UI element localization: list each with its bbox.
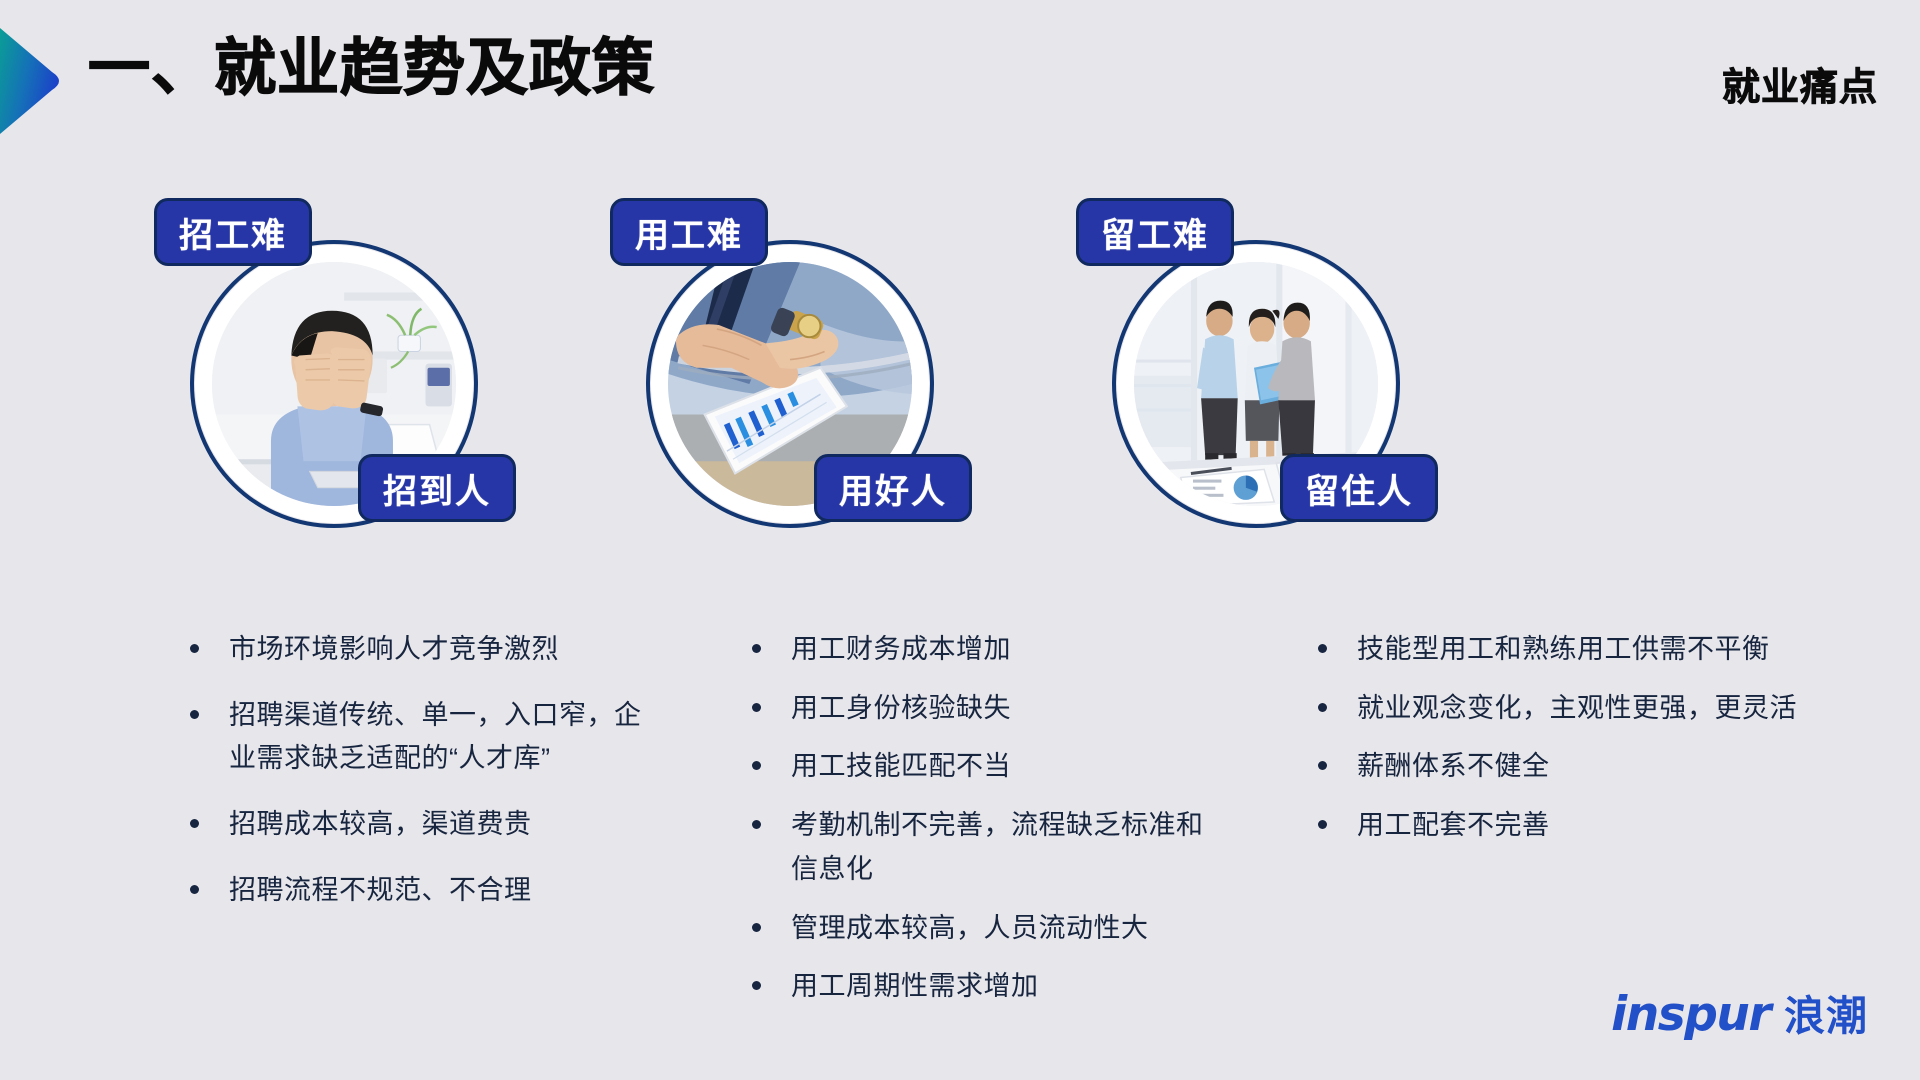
list-item: 招聘成本较高，渠道费贵 xyxy=(190,803,660,847)
list-item: 就业观念变化，主观性更强，更灵活 xyxy=(1318,687,1858,731)
list-item-text: 市场环境影响人才竞争激烈 xyxy=(229,628,559,672)
bullet-dot-icon xyxy=(1318,644,1327,653)
title-wedge-icon xyxy=(0,28,66,134)
card-bottom-badge[interactable]: 用好人 xyxy=(814,454,972,522)
card-top-badge[interactable]: 留工难 xyxy=(1076,198,1234,266)
bullet-dot-icon xyxy=(752,703,761,712)
list-item: 管理成本较高，人员流动性大 xyxy=(752,907,1222,951)
pain-point-cards: 招工难 招到人 xyxy=(0,210,1920,570)
detail-column: 市场环境影响人才竞争激烈 招聘渠道传统、单一，入口窄，企业需求缺乏适配的“人才库… xyxy=(190,628,660,935)
list-item-text: 招聘流程不规范、不合理 xyxy=(229,869,532,913)
inspur-logo: inspur 浪潮 xyxy=(1611,982,1868,1042)
pain-point-card[interactable]: 招工难 招到人 xyxy=(150,210,570,570)
page-title: 一、就业趋势及政策 xyxy=(88,38,655,100)
list-item: 技能型用工和熟练用工供需不平衡 xyxy=(1318,628,1858,672)
list-item-text: 管理成本较高，人员流动性大 xyxy=(791,907,1149,951)
list-item-text: 考勤机制不完善，流程缺乏标准和信息化 xyxy=(791,804,1222,891)
bullet-dot-icon xyxy=(752,820,761,829)
list-item: 用工配套不完善 xyxy=(1318,804,1858,848)
bullet-dot-icon xyxy=(1318,761,1327,770)
card-top-badge[interactable]: 用工难 xyxy=(610,198,768,266)
slide-header: 一、就业趋势及政策 就业痛点 xyxy=(0,0,1920,150)
list-item: 招聘流程不规范、不合理 xyxy=(190,869,660,913)
list-item: 用工周期性需求增加 xyxy=(752,965,1222,1009)
card-bottom-badge[interactable]: 留住人 xyxy=(1280,454,1438,522)
list-item-text: 就业观念变化，主观性更强，更灵活 xyxy=(1357,687,1797,731)
list-item: 薪酬体系不健全 xyxy=(1318,745,1858,789)
card-top-badge[interactable]: 招工难 xyxy=(154,198,312,266)
list-item-text: 用工财务成本增加 xyxy=(791,628,1011,672)
bullet-dot-icon xyxy=(1318,703,1327,712)
logo-wordmark-cn: 浪潮 xyxy=(1784,982,1868,1042)
list-item: 招聘渠道传统、单一，入口窄，企业需求缺乏适配的“人才库” xyxy=(190,694,660,781)
list-item-text: 技能型用工和熟练用工供需不平衡 xyxy=(1357,628,1770,672)
list-item-text: 用工周期性需求增加 xyxy=(791,965,1039,1009)
list-item-text: 用工身份核验缺失 xyxy=(791,687,1011,731)
list-item: 市场环境影响人才竞争激烈 xyxy=(190,628,660,672)
logo-wordmark-en: inspur xyxy=(1611,987,1770,1042)
bullet-dot-icon xyxy=(190,885,199,894)
bullet-dot-icon xyxy=(190,644,199,653)
bullet-dot-icon xyxy=(752,761,761,770)
pain-point-card[interactable]: 留工难 留住人 xyxy=(1072,210,1492,570)
pain-point-detail-columns: 市场环境影响人才竞争激烈 招聘渠道传统、单一，入口窄，企业需求缺乏适配的“人才库… xyxy=(0,628,1920,1008)
section-corner-label: 就业痛点 xyxy=(1722,56,1878,111)
bullet-dot-icon xyxy=(1318,820,1327,829)
list-item-text: 招聘渠道传统、单一，入口窄，企业需求缺乏适配的“人才库” xyxy=(229,694,660,781)
list-item: 用工财务成本增加 xyxy=(752,628,1222,672)
list-item: 考勤机制不完善，流程缺乏标准和信息化 xyxy=(752,804,1222,891)
list-item-text: 用工配套不完善 xyxy=(1357,804,1550,848)
bullet-dot-icon xyxy=(752,981,761,990)
bullet-dot-icon xyxy=(752,923,761,932)
list-item-text: 招聘成本较高，渠道费贵 xyxy=(229,803,532,847)
detail-column: 用工财务成本增加 用工身份核验缺失 用工技能匹配不当 考勤机制不完善，流程缺乏标… xyxy=(752,628,1222,1024)
bullet-dot-icon xyxy=(190,710,199,719)
list-item: 用工技能匹配不当 xyxy=(752,745,1222,789)
list-item: 用工身份核验缺失 xyxy=(752,687,1222,731)
card-bottom-badge[interactable]: 招到人 xyxy=(358,454,516,522)
detail-column: 技能型用工和熟练用工供需不平衡 就业观念变化，主观性更强，更灵活 薪酬体系不健全… xyxy=(1318,628,1858,863)
bullet-dot-icon xyxy=(190,819,199,828)
list-item-text: 用工技能匹配不当 xyxy=(791,745,1011,789)
list-item-text: 薪酬体系不健全 xyxy=(1357,745,1550,789)
pain-point-card[interactable]: 用工难 用好人 xyxy=(606,210,1026,570)
bullet-dot-icon xyxy=(752,644,761,653)
